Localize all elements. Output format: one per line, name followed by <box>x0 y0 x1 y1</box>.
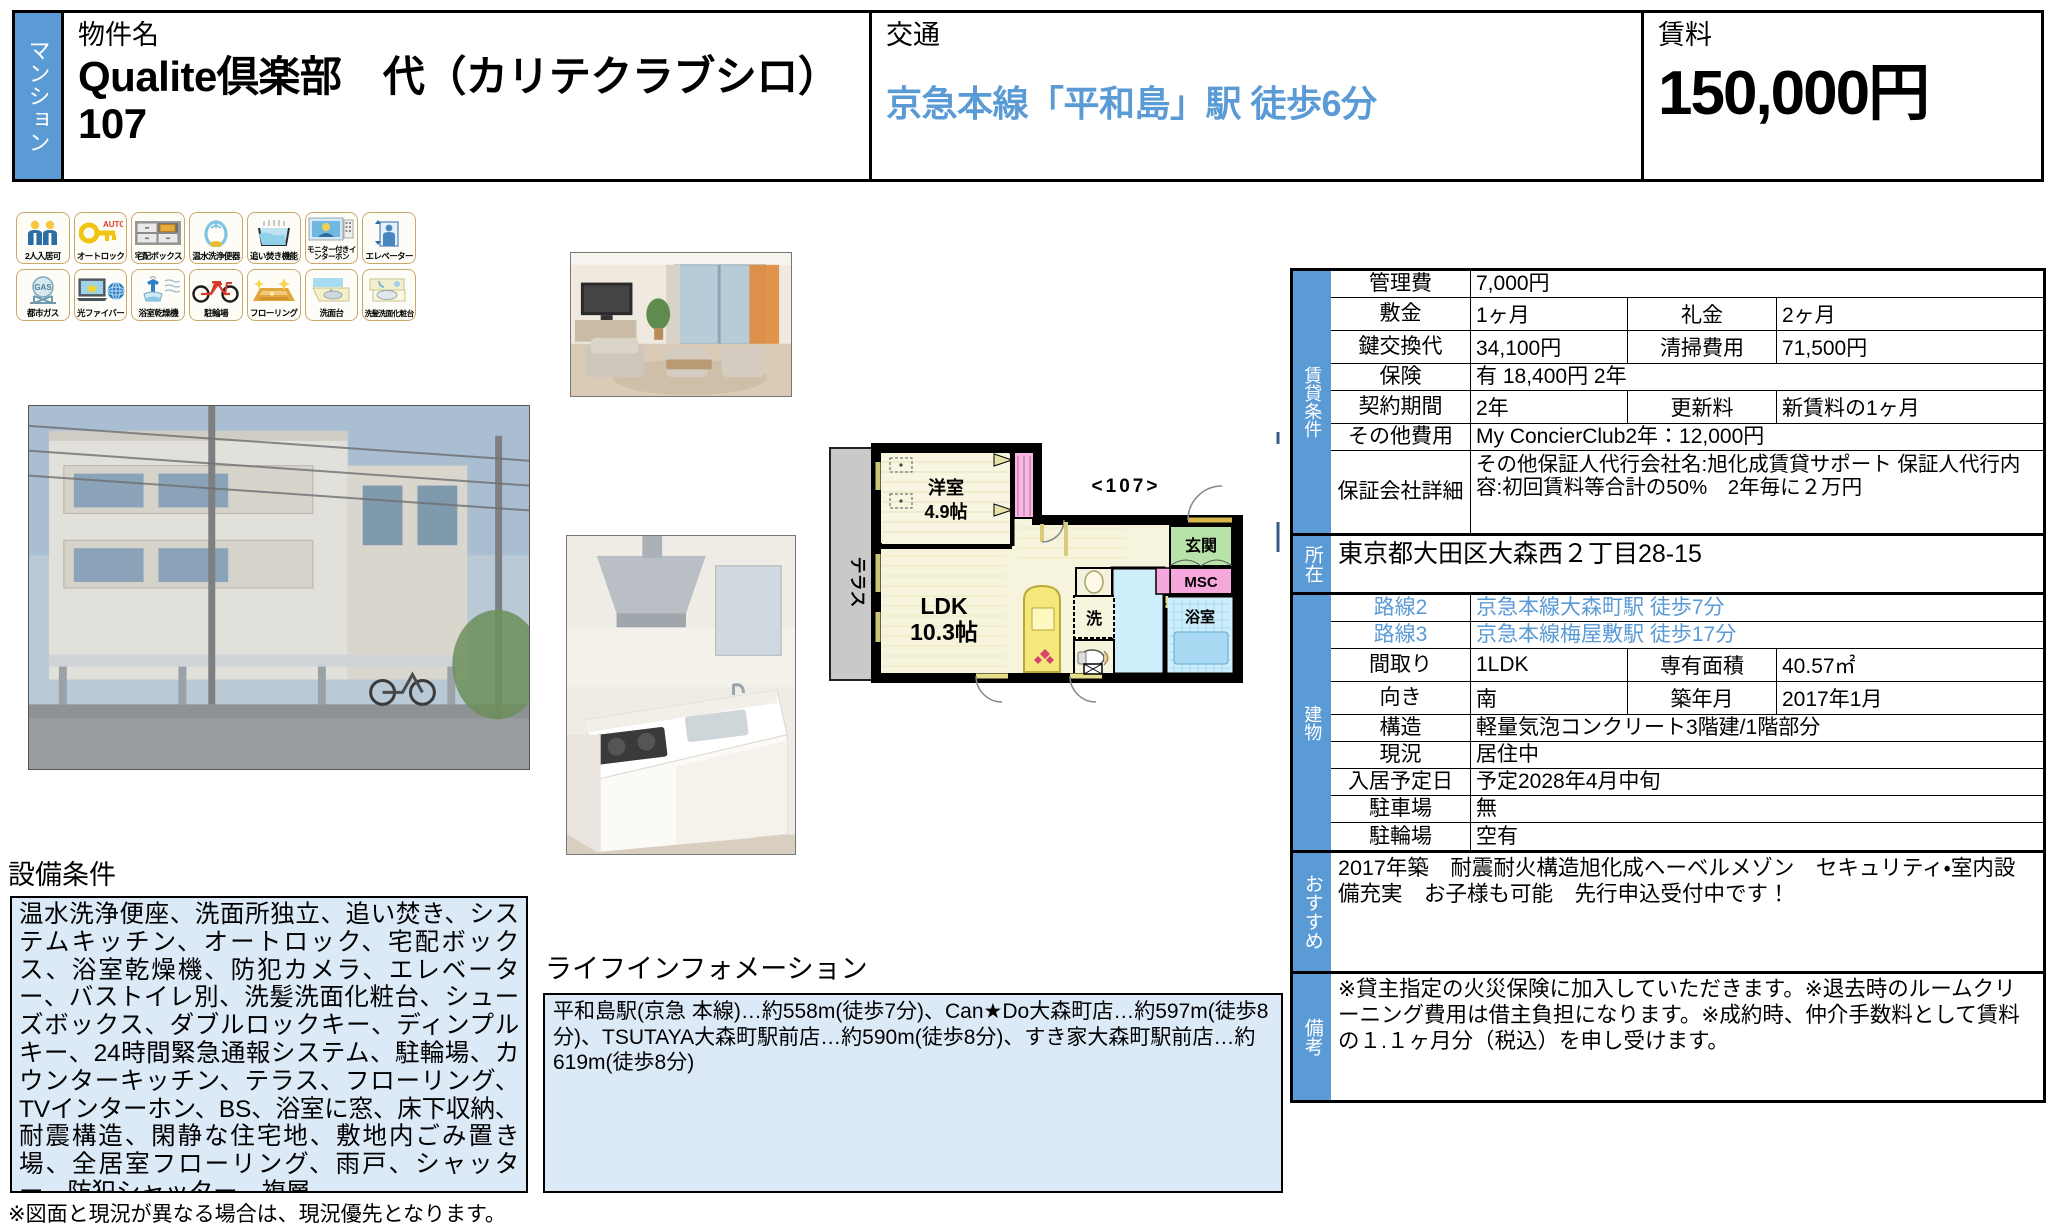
facility-badge-bicycle-parking: 駐輪場 <box>189 269 243 321</box>
access-label: 交通 <box>886 19 1629 51</box>
table-row: 保険 有 18,400円 2年 <box>1331 364 2043 391</box>
bicycle-parking-icon <box>190 270 242 309</box>
row-label: 契約期間 <box>1331 391 1471 423</box>
flooring-icon <box>248 270 300 309</box>
row-label: 駐車場 <box>1331 796 1471 822</box>
facility-caption: 宅配ボックス <box>132 252 184 263</box>
facility-caption: オートロック <box>75 252 127 263</box>
table-row: 敷金 1ヶ月 礼金 2ヶ月 <box>1331 298 2043 331</box>
reheating-bath-icon <box>248 213 300 252</box>
row-value: 軽量気泡コンクリート3階建/1階部分 <box>1471 715 2043 741</box>
location-body: 東京都大田区大森西２丁目28-15 <box>1331 536 2043 592</box>
facility-caption: 洗面台 <box>306 309 358 320</box>
two-persons-icon <box>17 213 69 252</box>
row-label-2: 清掃費用 <box>1627 331 1777 363</box>
facility-caption: 駐輪場 <box>190 309 242 320</box>
bath-dryer-icon <box>132 270 184 309</box>
facility-caption: 洗髪洗面化粧台 <box>363 310 415 320</box>
room-size-ldk: 10.3帖 <box>910 619 978 645</box>
access-cell: 交通 京急本線「平和島」駅 徒歩6分 <box>869 13 1641 179</box>
svg-text:AUTO: AUTO <box>103 220 123 229</box>
row-value: 無 <box>1471 796 2043 822</box>
row-label: 駐輪場 <box>1331 823 1471 850</box>
facility-icon-row-2: GAS 都市ガス 光ファイバー <box>16 269 416 321</box>
table-row: 路線3 京急本線梅屋敷駅 徒歩17分 <box>1331 622 2043 649</box>
row-value-2: 71,500円 <box>1777 331 2007 363</box>
property-name-cell: 物件名 Qualite倶楽部 代（カリテクラブシロ）107 <box>61 13 869 179</box>
washlet-toilet-icon <box>190 213 242 252</box>
row-label-2: 礼金 <box>1627 298 1777 330</box>
location-section: 所在 東京都大田区大森西２丁目28-15 <box>1293 536 2043 595</box>
exterior-photo <box>28 405 530 770</box>
row-value: 京急本線大森町駅 徒歩7分 <box>1471 595 2043 621</box>
auto-lock-key-icon: AUTO <box>75 213 127 252</box>
table-row: 2017年築 耐震耐火構造旭化成ヘーベルメゾン セキュリティ・室内設備充実 お子… <box>1331 853 2043 971</box>
table-row: 駐車場 無 <box>1331 796 2043 823</box>
equipment-note: ※図面と現況が異なる場合は、現況優先となります。 <box>8 1198 506 1228</box>
table-row: 東京都大田区大森西２丁目28-15 <box>1331 536 2043 592</box>
table-row: 契約期間 2年 更新料 新賃料の1ヶ月 <box>1331 391 2043 424</box>
remarks-body: ※貸主指定の火災保険に加入していただきます。※退去時のルームクリーニング費用は借… <box>1331 974 2043 1100</box>
table-row: 間取り 1LDK 専有面積 40.57㎡ <box>1331 649 2043 682</box>
facility-badge-delivery-box: 宅配ボックス <box>131 212 185 264</box>
property-header: マンション 物件名 Qualite倶楽部 代（カリテクラブシロ）107 交通 京… <box>12 10 2044 182</box>
row-value-2: 新賃料の1ヶ月 <box>1777 391 2007 423</box>
life-information-text: 平和島駅(京急 本線)…約558m(徒歩7分)、Can★Do大森町店…約597m… <box>543 993 1283 1193</box>
details-tables: 賃貸条件 管理費 7,000円 敷金 1ヶ月 礼金 2ヶ月 鍵交換代 34,10… <box>1290 268 2046 1103</box>
facility-caption: 追い焚き機能 <box>248 252 300 263</box>
rental-terms-side-label: 賃貸条件 <box>1293 271 1331 533</box>
facility-badge-city-gas: GAS 都市ガス <box>16 269 70 321</box>
row-label-2: 更新料 <box>1627 391 1777 423</box>
location-side-label: 所在 <box>1293 536 1331 592</box>
row-value: My ConcierClub2年：12,000円 <box>1471 424 2043 450</box>
table-row: 保証会社詳細 その他保証人代行会社名:旭化成賃貸サポート 保証人代行内容:初回賃… <box>1331 451 2043 533</box>
row-label-2: 築年月 <box>1627 682 1777 714</box>
row-value-2: 2017年1月 <box>1777 682 2007 714</box>
property-name-value: Qualite倶楽部 代（カリテクラブシロ）107 <box>78 53 857 147</box>
row-label: 路線3 <box>1331 622 1471 648</box>
room-size-bedroom: 4.9帖 <box>924 501 967 522</box>
row-label: 路線2 <box>1331 595 1471 621</box>
table-row: 現況 居住中 <box>1331 742 2043 769</box>
svg-text:GAS: GAS <box>34 283 52 292</box>
facility-badge-optical-fiber: 光ファイバー <box>74 269 128 321</box>
facility-badge-washstand: 洗面台 <box>305 269 359 321</box>
row-value: 有 18,400円 2年 <box>1471 364 2043 390</box>
kitchen-photo <box>566 535 796 855</box>
life-information-title: ライフインフォメーション <box>545 956 868 983</box>
row-label: 保証会社詳細 <box>1331 451 1471 533</box>
row-value-2: 40.57㎡ <box>1777 649 2007 681</box>
row-label: その他費用 <box>1331 424 1471 450</box>
equipment-title: 設備条件 <box>8 862 116 889</box>
washstand-icon <box>306 270 358 309</box>
rent-value: 150,000円 <box>1658 63 2029 125</box>
room-label-msc: MSC <box>1184 574 1218 591</box>
row-value: 1ヶ月 <box>1471 298 1627 330</box>
building-side-label: 建物 <box>1293 595 1331 850</box>
row-label-2: 専有面積 <box>1627 649 1777 681</box>
recommendation-side-label: おすすめ <box>1293 853 1331 971</box>
facility-caption: 都市ガス <box>17 309 69 320</box>
row-value: 南 <box>1471 682 1627 714</box>
table-row: ※貸主指定の火災保険に加入していただきます。※退去時のルームクリーニング費用は借… <box>1331 974 2043 1100</box>
recommendation-text: 2017年築 耐震耐火構造旭化成ヘーベルメゾン セキュリティ・室内設備充実 お子… <box>1331 853 2043 971</box>
rent-label: 賃料 <box>1658 19 2029 51</box>
facility-caption: 光ファイバー <box>75 309 127 320</box>
facility-caption: 温水洗浄便器 <box>190 252 242 263</box>
row-value: その他保証人代行会社名:旭化成賃貸サポート 保証人代行内容:初回賃料等合計の50… <box>1471 451 2043 533</box>
property-name-label: 物件名 <box>78 19 857 51</box>
facility-badge-reheating-bath: 追い焚き機能 <box>247 212 301 264</box>
recommendation-section: おすすめ 2017年築 耐震耐火構造旭化成ヘーベルメゾン セキュリティ・室内設備… <box>1293 853 2043 974</box>
facility-badge-monitor-intercom: モニター付きインターホン <box>305 212 359 264</box>
facility-badge-flooring: フローリング <box>247 269 301 321</box>
row-value: 1LDK <box>1471 649 1627 681</box>
row-label: 間取り <box>1331 649 1471 681</box>
living-room-photo <box>570 252 792 397</box>
row-label: 入居予定日 <box>1331 769 1471 795</box>
remarks-section: 備考 ※貸主指定の火災保険に加入していただきます。※退去時のルームクリーニング費… <box>1293 974 2043 1100</box>
facility-caption: エレベーター <box>363 252 415 263</box>
property-type-tag: マンション <box>15 13 61 179</box>
remarks-side-label: 備考 <box>1293 974 1331 1100</box>
rental-terms-body: 管理費 7,000円 敷金 1ヶ月 礼金 2ヶ月 鍵交換代 34,100円 清掃… <box>1331 271 2043 533</box>
table-row: 駐輪場 空有 <box>1331 823 2043 850</box>
facility-badge-shampoo-dresser: 洗髪洗面化粧台 <box>362 269 416 321</box>
facility-caption: モニター付きインターホン <box>306 246 358 263</box>
facility-caption: 2人入居可 <box>17 252 69 263</box>
rental-terms-section: 賃貸条件 管理費 7,000円 敷金 1ヶ月 礼金 2ヶ月 鍵交換代 34,10… <box>1293 271 2043 536</box>
row-value: 居住中 <box>1471 742 2043 768</box>
row-value: 京急本線梅屋敷駅 徒歩17分 <box>1471 622 2043 648</box>
facility-badge-auto-lock: AUTO オートロック <box>74 212 128 264</box>
optical-fiber-icon <box>75 270 127 309</box>
floorplan-diagram: テラス 洋室 4.9帖 <box>826 432 1286 712</box>
row-label: 構造 <box>1331 715 1471 741</box>
table-row: 向き 南 築年月 2017年1月 <box>1331 682 2043 715</box>
table-row: 管理費 7,000円 <box>1331 271 2043 298</box>
monitor-intercom-icon <box>306 213 358 246</box>
table-row: 構造 軽量気泡コンクリート3階建/1階部分 <box>1331 715 2043 742</box>
table-row: 入居予定日 予定2028年4月中旬 <box>1331 769 2043 796</box>
rent-cell: 賃料 150,000円 <box>1641 13 2041 179</box>
room-label-entrance: 玄関 <box>1185 536 1217 555</box>
facility-badge-two-persons: 2人入居可 <box>16 212 70 264</box>
facility-icon-row-1: 2人入居可 AUTO オートロック <box>16 212 416 264</box>
table-row: 路線2 京急本線大森町駅 徒歩7分 <box>1331 595 2043 622</box>
recommendation-body: 2017年築 耐震耐火構造旭化成ヘーベルメゾン セキュリティ・室内設備充実 お子… <box>1331 853 2043 971</box>
row-label: 鍵交換代 <box>1331 331 1471 363</box>
building-section: 建物 路線2 京急本線大森町駅 徒歩7分 路線3 京急本線梅屋敷駅 徒歩17分 … <box>1293 595 2043 853</box>
room-label-ldk: LDK <box>920 593 968 619</box>
delivery-box-icon <box>132 213 184 252</box>
row-label: 管理費 <box>1331 271 1471 297</box>
floorplan-unit-number: <107> <box>1092 476 1161 497</box>
city-gas-icon: GAS <box>17 270 69 309</box>
elevator-icon <box>363 213 415 252</box>
facility-badge-washlet: 温水洗浄便器 <box>189 212 243 264</box>
row-value-2: 2ヶ月 <box>1777 298 2007 330</box>
room-label-washroom: 洗 <box>1086 609 1102 628</box>
table-row: その他費用 My ConcierClub2年：12,000円 <box>1331 424 2043 451</box>
row-value: 34,100円 <box>1471 331 1627 363</box>
facility-icon-list: 2人入居可 AUTO オートロック <box>16 212 416 326</box>
room-label-bedroom: 洋室 <box>928 477 964 498</box>
access-value: 京急本線「平和島」駅 徒歩6分 <box>886 75 1629 127</box>
equipment-text: 温水洗浄便座、洗面所独立、追い焚き、システムキッチン、オートロック、宅配ボックス… <box>10 896 528 1193</box>
facility-badge-bath-dryer: 浴室乾燥機 <box>131 269 185 321</box>
row-label: 現況 <box>1331 742 1471 768</box>
room-label-terrace: テラス <box>848 557 867 608</box>
table-row: 鍵交換代 34,100円 清掃費用 71,500円 <box>1331 331 2043 364</box>
row-value: 空有 <box>1471 823 2043 850</box>
row-value: 予定2028年4月中旬 <box>1471 769 2043 795</box>
facility-badge-elevator: エレベーター <box>362 212 416 264</box>
row-label: 敷金 <box>1331 298 1471 330</box>
row-label: 向き <box>1331 682 1471 714</box>
remarks-text: ※貸主指定の火災保険に加入していただきます。※退去時のルームクリーニング費用は借… <box>1331 974 2043 1100</box>
facility-caption: フローリング <box>248 309 300 320</box>
facility-caption: 浴室乾燥機 <box>132 309 184 320</box>
address-value: 東京都大田区大森西２丁目28-15 <box>1331 536 2043 592</box>
row-value: 2年 <box>1471 391 1627 423</box>
building-body: 路線2 京急本線大森町駅 徒歩7分 路線3 京急本線梅屋敷駅 徒歩17分 間取り… <box>1331 595 2043 850</box>
row-value: 7,000円 <box>1471 271 2043 297</box>
room-label-bathroom: 浴室 <box>1185 608 1215 626</box>
shampoo-dresser-icon <box>363 270 415 310</box>
row-label: 保険 <box>1331 364 1471 390</box>
